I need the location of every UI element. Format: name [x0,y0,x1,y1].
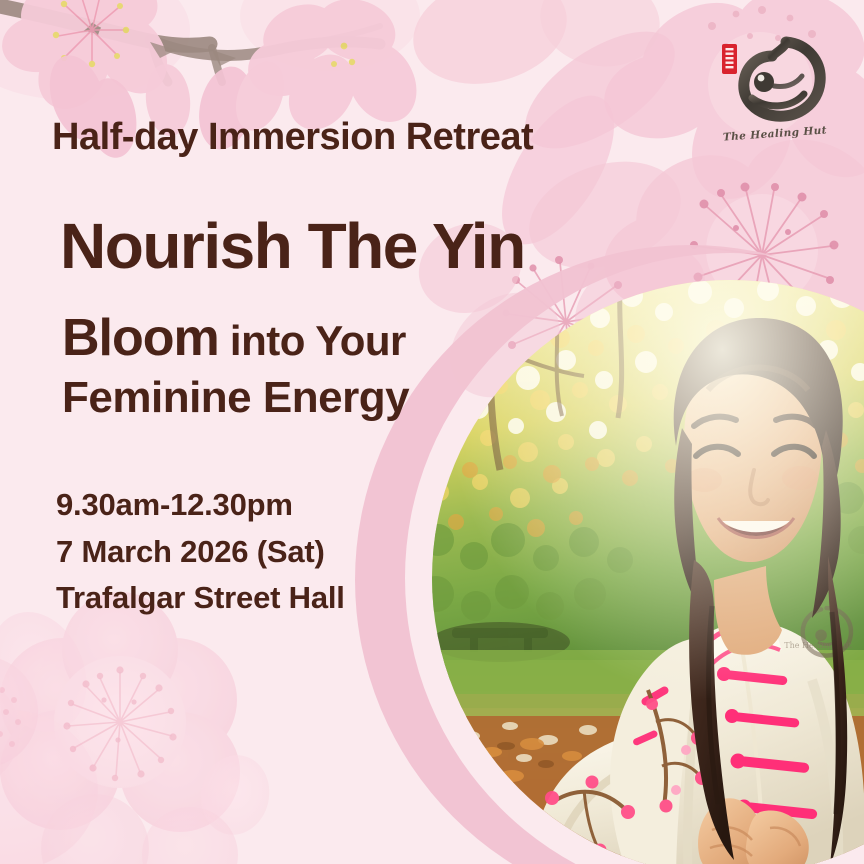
subheadline-bloom: Bloom [62,309,219,367]
event-details: 9.30am-12.30pm 7 March 2026 (Sat) Trafal… [56,482,652,622]
poster-text-block: Half-day Immersion Retreat Nourish The Y… [52,118,652,622]
eyebrow-label: Half-day Immersion Retreat [52,118,652,158]
subheadline-line-1: Bloom into Your [62,308,652,369]
event-date: 7 March 2026 (Sat) [56,529,652,576]
enso-brush-icon [744,42,820,116]
brand-logo: The Healing Hut [716,26,834,138]
page-title: Nourish The Yin [60,213,652,280]
event-time: 9.30am-12.30pm [56,482,652,529]
red-seal-icon [722,44,737,74]
event-venue: Trafalgar Street Hall [56,575,652,622]
poster-canvas: The Healing Hut [0,0,864,864]
subheadline-rest: into Your [219,317,406,364]
subheadline-line-2: Feminine Energy [62,373,652,424]
